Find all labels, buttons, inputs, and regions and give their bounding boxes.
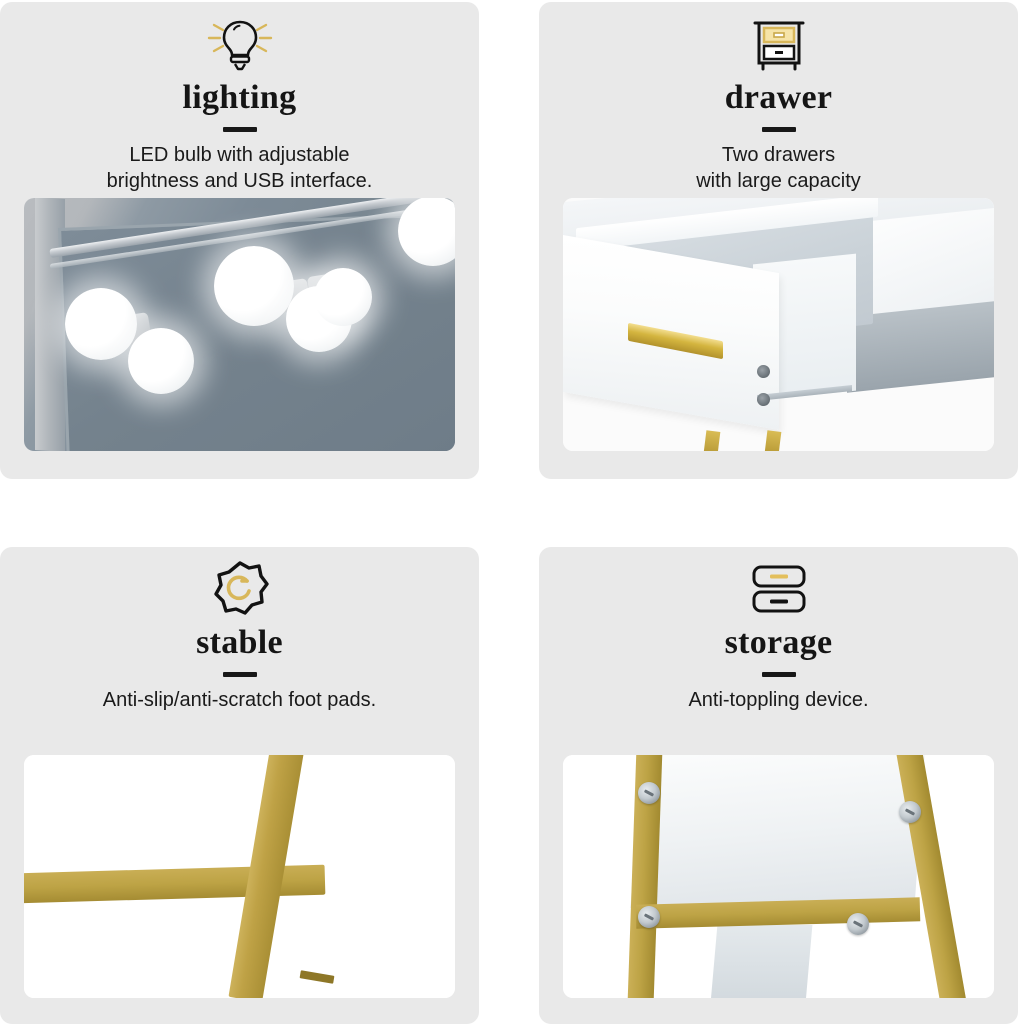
screw bbox=[638, 906, 660, 928]
description-line-1: Anti-toppling device. bbox=[688, 689, 868, 711]
gold-leg bbox=[704, 430, 721, 451]
panel-description: Two drawers with large capacity bbox=[579, 142, 979, 194]
foot-pad bbox=[299, 970, 334, 984]
feature-panel-grid: lighting LED bulb with adjustable bright… bbox=[0, 0, 1018, 1024]
panel-header: drawer Two drawers with large capacity bbox=[539, 2, 1018, 194]
nightstand-icon bbox=[539, 14, 1018, 76]
gold-leg bbox=[764, 430, 781, 451]
white-back-panel bbox=[631, 755, 927, 908]
scalloped-badge-icon bbox=[0, 559, 479, 621]
panel-header: lighting LED bulb with adjustable bright… bbox=[0, 2, 479, 194]
led-bulb bbox=[128, 328, 194, 394]
page-title: stable bbox=[0, 623, 479, 663]
description-line-2: brightness and USB interface. bbox=[107, 170, 373, 192]
led-bulb bbox=[214, 246, 294, 326]
page-title: lighting bbox=[0, 78, 479, 118]
title-divider bbox=[223, 672, 257, 677]
drawer-photo bbox=[563, 198, 994, 451]
screw bbox=[757, 365, 770, 378]
title-divider bbox=[762, 672, 796, 677]
storage-photo bbox=[563, 755, 994, 998]
leg-scene bbox=[24, 755, 455, 998]
screw bbox=[847, 913, 869, 935]
description-line-1: Two drawers bbox=[722, 144, 835, 166]
feature-panel-lighting: lighting LED bulb with adjustable bright… bbox=[0, 2, 479, 479]
lighting-photo bbox=[24, 198, 455, 451]
lightbulb-icon bbox=[0, 14, 479, 76]
feature-panel-stable: stable Anti-slip/anti-scratch foot pads. bbox=[0, 547, 479, 1024]
title-divider bbox=[223, 127, 257, 132]
panel-description: Anti-slip/anti-scratch foot pads. bbox=[40, 687, 440, 713]
description-line-1: LED bulb with adjustable bbox=[129, 144, 349, 166]
panel-description: LED bulb with adjustable brightness and … bbox=[40, 142, 440, 194]
drawer-scene bbox=[563, 198, 994, 451]
description-line-1: Anti-slip/anti-scratch foot pads. bbox=[103, 689, 376, 711]
stable-photo bbox=[24, 755, 455, 998]
panel-header: storage Anti-toppling device. bbox=[539, 547, 1018, 713]
title-divider bbox=[762, 127, 796, 132]
led-bulb bbox=[314, 268, 372, 326]
description-line-2: with large capacity bbox=[696, 170, 861, 192]
frame-scene bbox=[563, 755, 994, 998]
feature-panel-storage: storage Anti-toppling device. bbox=[539, 547, 1018, 1024]
mirror-surface bbox=[24, 198, 455, 451]
inner-white-panel bbox=[710, 925, 812, 998]
panel-description: Anti-toppling device. bbox=[579, 687, 979, 713]
led-bulb bbox=[65, 288, 137, 360]
panel-header: stable Anti-slip/anti-scratch foot pads. bbox=[0, 547, 479, 713]
screw bbox=[757, 393, 770, 406]
two-drawers-icon bbox=[539, 559, 1018, 621]
page-title: storage bbox=[539, 623, 1018, 663]
page-title: drawer bbox=[539, 78, 1018, 118]
screw bbox=[638, 782, 660, 804]
feature-panel-drawer: drawer Two drawers with large capacity bbox=[539, 2, 1018, 479]
